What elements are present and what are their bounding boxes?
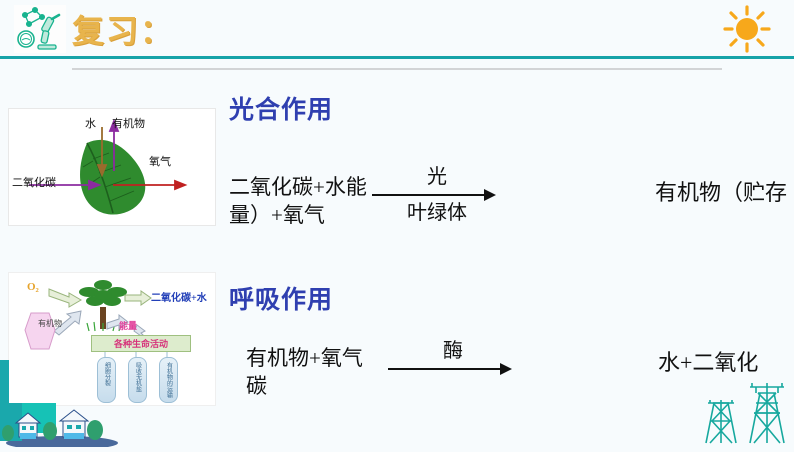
activity-pill-2: 吸收无机盐 xyxy=(128,357,147,403)
section-heading-respiration: 呼吸作用 xyxy=(229,280,333,316)
activity-pill-1-label: 细胞分裂 xyxy=(104,362,110,386)
activity-pill-3-label: 有机物的运输 xyxy=(166,362,172,398)
photosynthesis-arrow-above-label: 光 xyxy=(372,166,502,188)
respiration-equation-right: 水+二氧化 xyxy=(658,345,758,377)
leaf-label-water: 水 xyxy=(85,115,96,131)
life-activities-banner-label: 各种生命活动 xyxy=(92,337,190,350)
leaf-photosynthesis-diagram: 水 有机物 氧气 二氧化碳 xyxy=(8,108,216,226)
slide-canvas: 复习： 光合作用 xyxy=(0,0,794,447)
photosynthesis-equation-left: 二氧化碳+水能量）+氧气 xyxy=(229,174,389,229)
respiration-label-organic-matter: 有机物 xyxy=(38,318,62,329)
leaf-label-oxygen: 氧气 xyxy=(149,153,171,169)
header-divider-teal xyxy=(0,56,794,59)
photosynthesis-reaction-arrow: 光 叶绿体 xyxy=(372,166,502,224)
activity-pill-1: 细胞分裂 xyxy=(97,357,116,403)
activity-pill-2-label: 吸收无机盐 xyxy=(135,362,141,392)
photosynthesis-equation-right: 有机物（贮存 xyxy=(655,175,787,207)
respiration-label-energy: 能量 xyxy=(119,319,137,332)
respiration-diagram: O₂ 二氧化碳+水 能量 有机物 各种生命活动 细胞分裂 吸收无机盐 有机物的运… xyxy=(8,272,216,406)
power-transmission-towers-icon xyxy=(692,381,788,445)
arrow-shaft-icon xyxy=(388,362,518,376)
respiration-label-oxygen: O₂ xyxy=(27,281,39,293)
header-divider-gray xyxy=(72,68,722,70)
respiration-label-co2-water: 二氧化碳+水 xyxy=(151,289,207,304)
leaf-label-organic-matter: 有机物 xyxy=(112,115,145,131)
activity-pill-3: 有机物的运输 xyxy=(159,357,178,403)
photosynthesis-arrow-below-label: 叶绿体 xyxy=(372,202,502,224)
respiration-arrow-above-label: 酶 xyxy=(388,340,518,362)
respiration-equation-left: 有机物+氧气 碳 xyxy=(246,345,396,400)
sun-icon xyxy=(718,4,776,54)
arrow-shaft-icon xyxy=(372,188,502,202)
leaf-label-carbon-dioxide: 二氧化碳 xyxy=(12,174,56,190)
village-houses-icon xyxy=(0,403,118,447)
life-activities-banner: 各种生命活动 xyxy=(91,335,191,352)
microscope-molecule-icon xyxy=(14,5,66,53)
section-heading-photosynthesis: 光合作用 xyxy=(229,90,333,126)
page-title: 复习： xyxy=(72,6,174,52)
respiration-reaction-arrow: 酶 xyxy=(388,340,518,376)
